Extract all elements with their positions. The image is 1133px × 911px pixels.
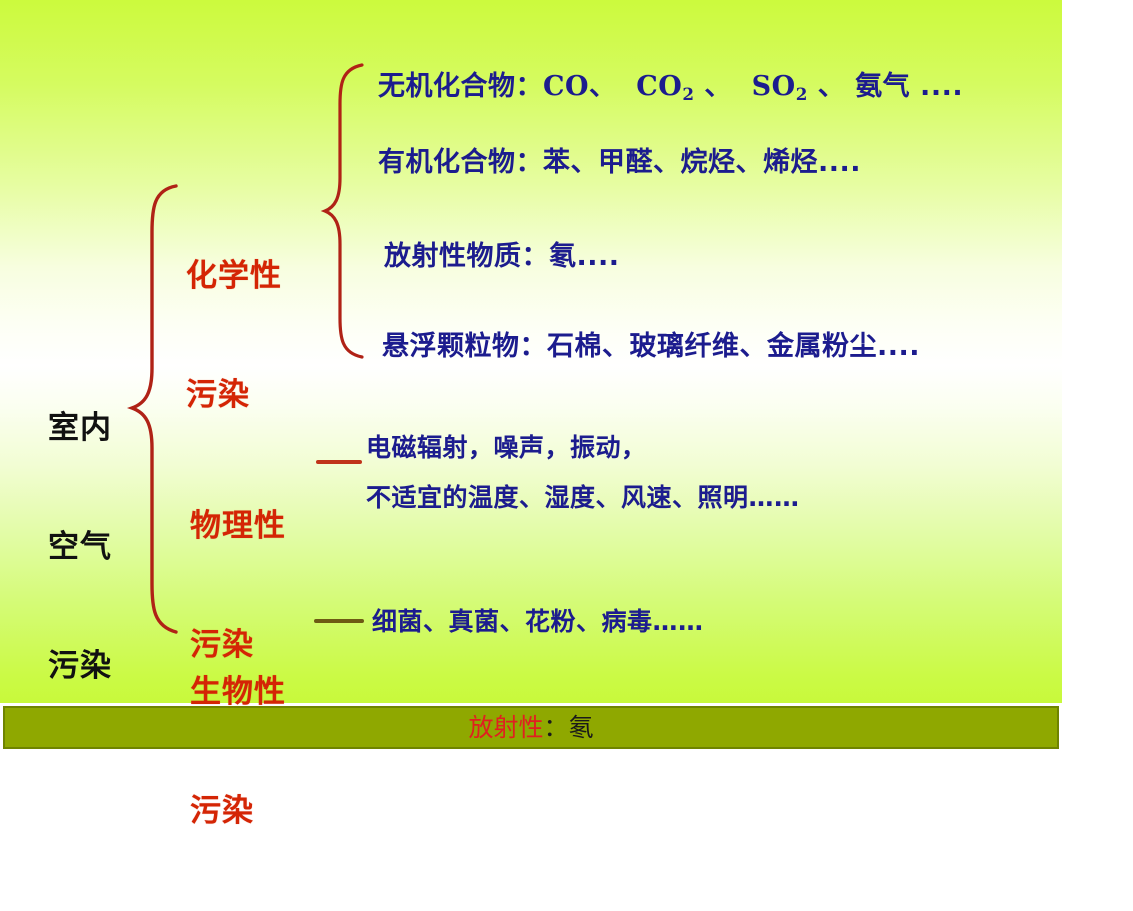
item-physical-1: 电磁辐射，噪声，振动，	[366, 432, 647, 464]
connector-dash-biological	[314, 619, 364, 623]
item-inorganic-formula-2: 、 SO	[694, 71, 795, 102]
slide-root: 室内 空气 污染 化学性 污染 无机化合物：CO、 CO2 、 SO2 、 氨气…	[0, 0, 1133, 752]
footer-dark-text: ：氡	[544, 715, 594, 740]
connector-dash-physical	[316, 460, 362, 464]
item-particulate-value: 石棉、玻璃纤维、金属粉尘....	[547, 331, 920, 362]
category-biological-line-2: 污染	[190, 792, 286, 832]
item-radioactive-label: 放射性物质：	[384, 241, 549, 272]
chemical-brace-icon	[322, 60, 378, 365]
category-physical-line-1: 物理性	[190, 507, 286, 547]
footer-caption-bar: 放射性：氡	[3, 706, 1059, 749]
root-label-line-3: 污染	[30, 647, 130, 687]
item-organic-value: 苯、甲醛、烷烃、烯烃....	[543, 147, 861, 178]
item-radioactive: 放射性物质：氡....	[384, 240, 620, 275]
item-physical-2: 不适宜的温度、湿度、风速、照明……	[366, 482, 800, 514]
category-label-biological: 生物性 污染	[190, 594, 286, 911]
item-biological-1: 细菌、真菌、花粉、病毒……	[372, 606, 704, 638]
item-organic-label: 有机化合物：	[378, 147, 543, 178]
root-label-line-1: 室内	[30, 409, 130, 449]
item-radioactive-value: 氡....	[549, 241, 620, 272]
category-chemical-line-2: 污染	[186, 376, 282, 416]
item-organic: 有机化合物：苯、甲醛、烷烃、烯烃....	[378, 146, 861, 181]
item-inorganic: 无机化合物：CO、 CO2 、 SO2 、 氨气 ....	[378, 70, 963, 105]
category-chemical-line-1: 化学性	[186, 257, 282, 297]
root-label-line-2: 空气	[30, 528, 130, 568]
item-inorganic-sub-2: 2	[796, 84, 808, 104]
item-particulate-label: 悬浮颗粒物：	[382, 331, 547, 362]
item-inorganic-formula-1: CO、 CO	[543, 71, 682, 102]
item-inorganic-sub-1: 2	[682, 84, 694, 104]
item-inorganic-suffix: 、 氨气 ....	[808, 71, 963, 102]
root-label: 室内 空气 污染	[30, 330, 130, 766]
item-inorganic-label: 无机化合物：	[378, 71, 543, 102]
item-particulate: 悬浮颗粒物：石棉、玻璃纤维、金属粉尘....	[382, 330, 920, 365]
footer-red-text: 放射性	[468, 715, 543, 740]
